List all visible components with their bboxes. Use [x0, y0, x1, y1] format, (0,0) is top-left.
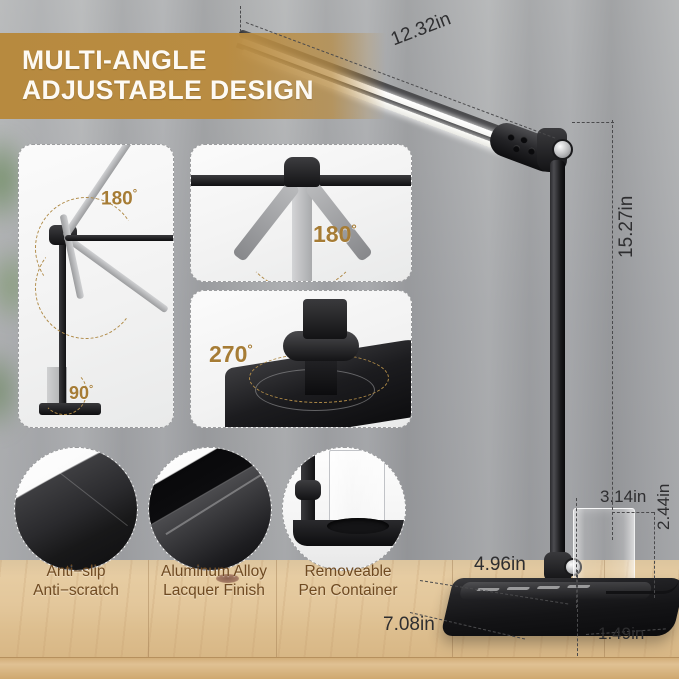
power-cord [606, 578, 679, 594]
guide-height-right [612, 120, 613, 540]
feature-caption-aluminum: Aluminum Alloy Lacquer Finish [138, 562, 290, 600]
angle-label-180-side: 180° [101, 188, 137, 210]
guide-head-start [240, 6, 241, 32]
angle-label-90-base: 90° [69, 383, 93, 404]
banner-line-2: ADJUSTABLE DESIGN [22, 76, 386, 106]
feature-thumb-aluminum [148, 447, 272, 571]
dimension-base-depth: 4.96in [474, 554, 526, 576]
guide-height-top [572, 122, 614, 123]
angle-label-180-top: 180° [313, 221, 357, 248]
desk-front-edge [0, 657, 679, 679]
feature-thumb-pen-container [282, 447, 406, 571]
dimension-base-thickness: 1.49in [598, 624, 644, 644]
panel-c-neck [303, 299, 347, 339]
panel-top-view: 180° [190, 144, 412, 282]
title-banner: MULTI-ANGLE ADJUSTABLE DESIGN [0, 33, 386, 119]
dimension-base-width: 7.08in [383, 614, 435, 636]
feature-caption-pen-container: Removeable Pen Container [272, 562, 424, 600]
panel-hinge-view: 270° [190, 290, 412, 428]
feature-caption-anti-slip: Anti−slip Anti−scratch [0, 562, 152, 600]
banner-line-1: MULTI-ANGLE [22, 46, 386, 76]
panel-side-view: 180° 90° [18, 144, 174, 428]
guide-pen-top [612, 512, 654, 513]
guide-base-center [577, 570, 578, 656]
feature-thumb-anti-slip [14, 447, 138, 571]
dimension-total-height: 15.27in [616, 196, 638, 258]
dimension-pen-width: 3.14in [600, 487, 646, 507]
dimension-pen-height: 2.44in [654, 484, 674, 530]
upper-joint-knob [552, 139, 573, 160]
lamp-pole [550, 160, 565, 564]
product-infographic: MULTI-ANGLE ADJUSTABLE DESIGN 180° 90° [0, 0, 679, 679]
angle-label-270: 270° [209, 341, 253, 368]
